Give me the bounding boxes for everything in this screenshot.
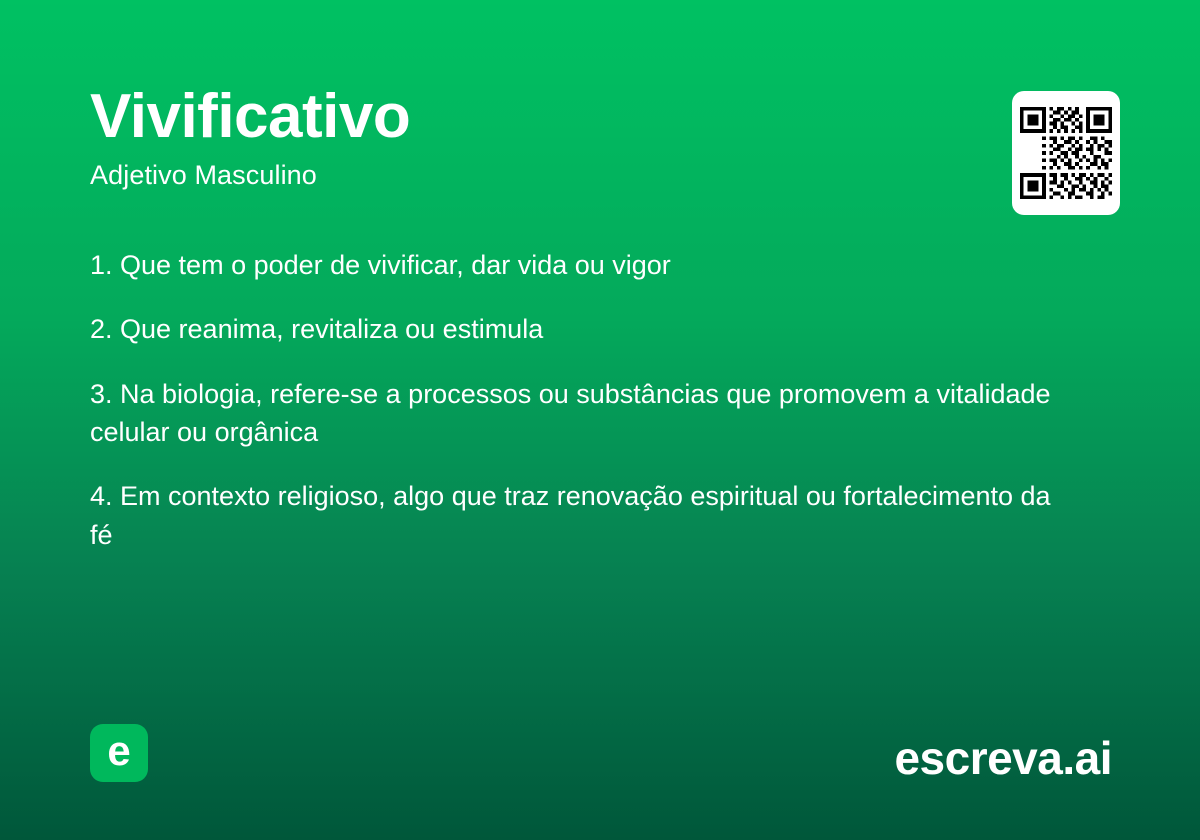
qr-code-icon	[1020, 107, 1112, 199]
escreva-logo-icon: e	[90, 724, 148, 782]
list-item: 1. Que tem o poder de vivificar, dar vid…	[90, 246, 1080, 284]
card-header: Vivificativo Adjetivo Masculino	[90, 84, 950, 191]
list-item: 4. Em contexto religioso, algo que traz …	[90, 477, 1080, 554]
word-class-label: Adjetivo Masculino	[90, 159, 950, 191]
list-item: 3. Na biologia, refere-se a processos ou…	[90, 375, 1080, 452]
logo-letter: e	[107, 730, 130, 772]
list-item: 2. Que reanima, revitaliza ou estimula	[90, 310, 1080, 348]
brand-wordmark: escreva.ai	[894, 733, 1112, 784]
page-title: Vivificativo	[90, 84, 950, 149]
definition-list: 1. Que tem o poder de vivificar, dar vid…	[90, 246, 1100, 554]
qr-code-container[interactable]	[1012, 91, 1120, 215]
dictionary-card: Vivificativo Adjetivo Masculino	[0, 0, 1200, 840]
